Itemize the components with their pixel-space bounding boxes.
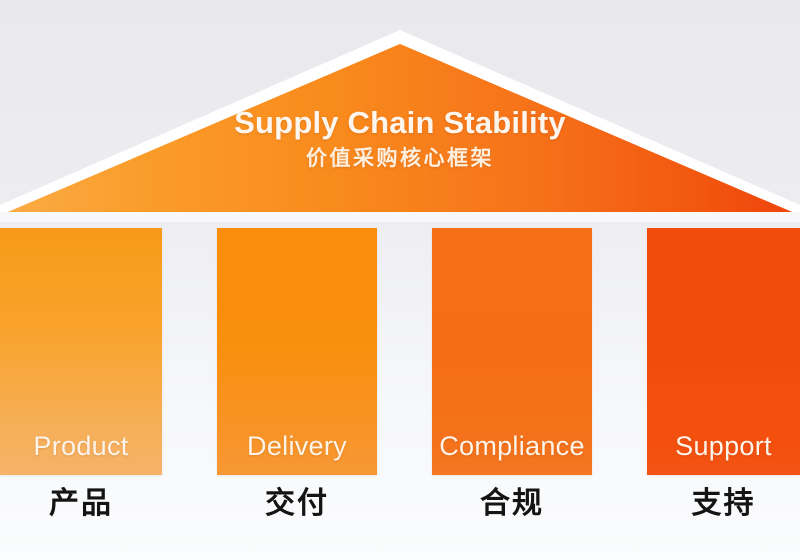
pillar-compliance[interactable]: Compliance: [432, 228, 592, 475]
pillar-label-en-product: Product: [33, 431, 128, 475]
pillar-caption-zh-product: 产品: [0, 484, 162, 524]
diagram-canvas: Supply Chain Stability 价值采购核心框架 Product …: [0, 0, 800, 560]
pillar-product[interactable]: Product: [0, 228, 162, 475]
roof-shape-icon: [0, 0, 800, 222]
pillar-label-en-delivery: Delivery: [247, 431, 347, 475]
pillar-label-en-support: Support: [675, 431, 772, 475]
pillar-caption-zh-delivery: 交付: [217, 484, 377, 524]
pillar-caption-zh-support: 支持: [647, 484, 800, 524]
pillar-caption-zh-compliance: 合规: [432, 484, 592, 524]
pillar-support[interactable]: Support: [647, 228, 800, 475]
pillar-label-en-compliance: Compliance: [439, 431, 585, 475]
pillar-delivery[interactable]: Delivery: [217, 228, 377, 475]
roof-pediment: Supply Chain Stability 价值采购核心框架: [0, 0, 800, 222]
